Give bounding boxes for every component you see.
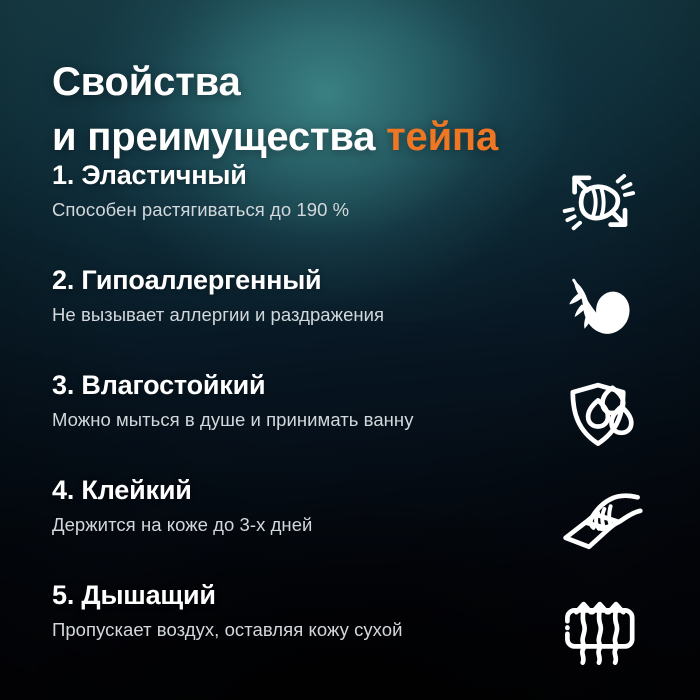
- title-line-2: и преимущества тейпа: [52, 110, 652, 165]
- list-item: 5. Дышащий Пропускает воздух, оставляя к…: [0, 580, 700, 690]
- feature-heading: 4. Клейкий: [52, 475, 512, 507]
- feature-list: 1. Эластичный Способен растягиваться до …: [0, 160, 700, 690]
- shield-water-drops-icon: [552, 368, 644, 458]
- feature-heading: 5. Дышащий: [52, 580, 512, 612]
- title-line-2-plain: и преимущества: [52, 115, 386, 159]
- feature-description: Держится на коже до 3-х дней: [52, 513, 512, 536]
- page-title: Свойства и преимущества тейпа: [52, 55, 652, 165]
- title-line-1: Свойства: [52, 55, 652, 110]
- feature-text-block: 1. Эластичный Способен растягиваться до …: [52, 160, 512, 221]
- list-item: 4. Клейкий Держится на коже до 3-х дней: [0, 475, 700, 580]
- feature-heading: 2. Гипоаллергенный: [52, 265, 512, 297]
- feature-description: Способен растягиваться до 190 %: [52, 198, 512, 221]
- feature-heading: 3. Влагостойкий: [52, 370, 512, 402]
- poster-content: Свойства и преимущества тейпа 1. Эластич…: [0, 0, 700, 700]
- feature-description: Пропускает воздух, оставляя кожу сухой: [52, 618, 512, 641]
- feature-text-block: 3. Влагостойкий Можно мыться в душе и пр…: [52, 370, 512, 431]
- hand-applying-tape-icon: [552, 473, 644, 563]
- feature-heading: 1. Эластичный: [52, 160, 512, 192]
- list-item: 3. Влагостойкий Можно мыться в душе и пр…: [0, 370, 700, 475]
- feature-text-block: 4. Клейкий Держится на коже до 3-х дней: [52, 475, 512, 536]
- feature-description: Можно мыться в душе и принимать ванну: [52, 408, 512, 431]
- stretch-arrows-icon: [552, 158, 644, 248]
- list-item: 1. Эластичный Способен растягиваться до …: [0, 160, 700, 265]
- list-item: 2. Гипоаллергенный Не вызывает аллергии …: [0, 265, 700, 370]
- title-accent-word: тейпа: [386, 115, 498, 159]
- breathable-airflow-icon: [552, 578, 644, 668]
- feature-text-block: 2. Гипоаллергенный Не вызывает аллергии …: [52, 265, 512, 326]
- promo-poster: Свойства и преимущества тейпа 1. Эластич…: [0, 0, 700, 700]
- feature-description: Не вызывает аллергии и раздражения: [52, 303, 512, 326]
- feature-text-block: 5. Дышащий Пропускает воздух, оставляя к…: [52, 580, 512, 641]
- feather-icon: [552, 263, 644, 353]
